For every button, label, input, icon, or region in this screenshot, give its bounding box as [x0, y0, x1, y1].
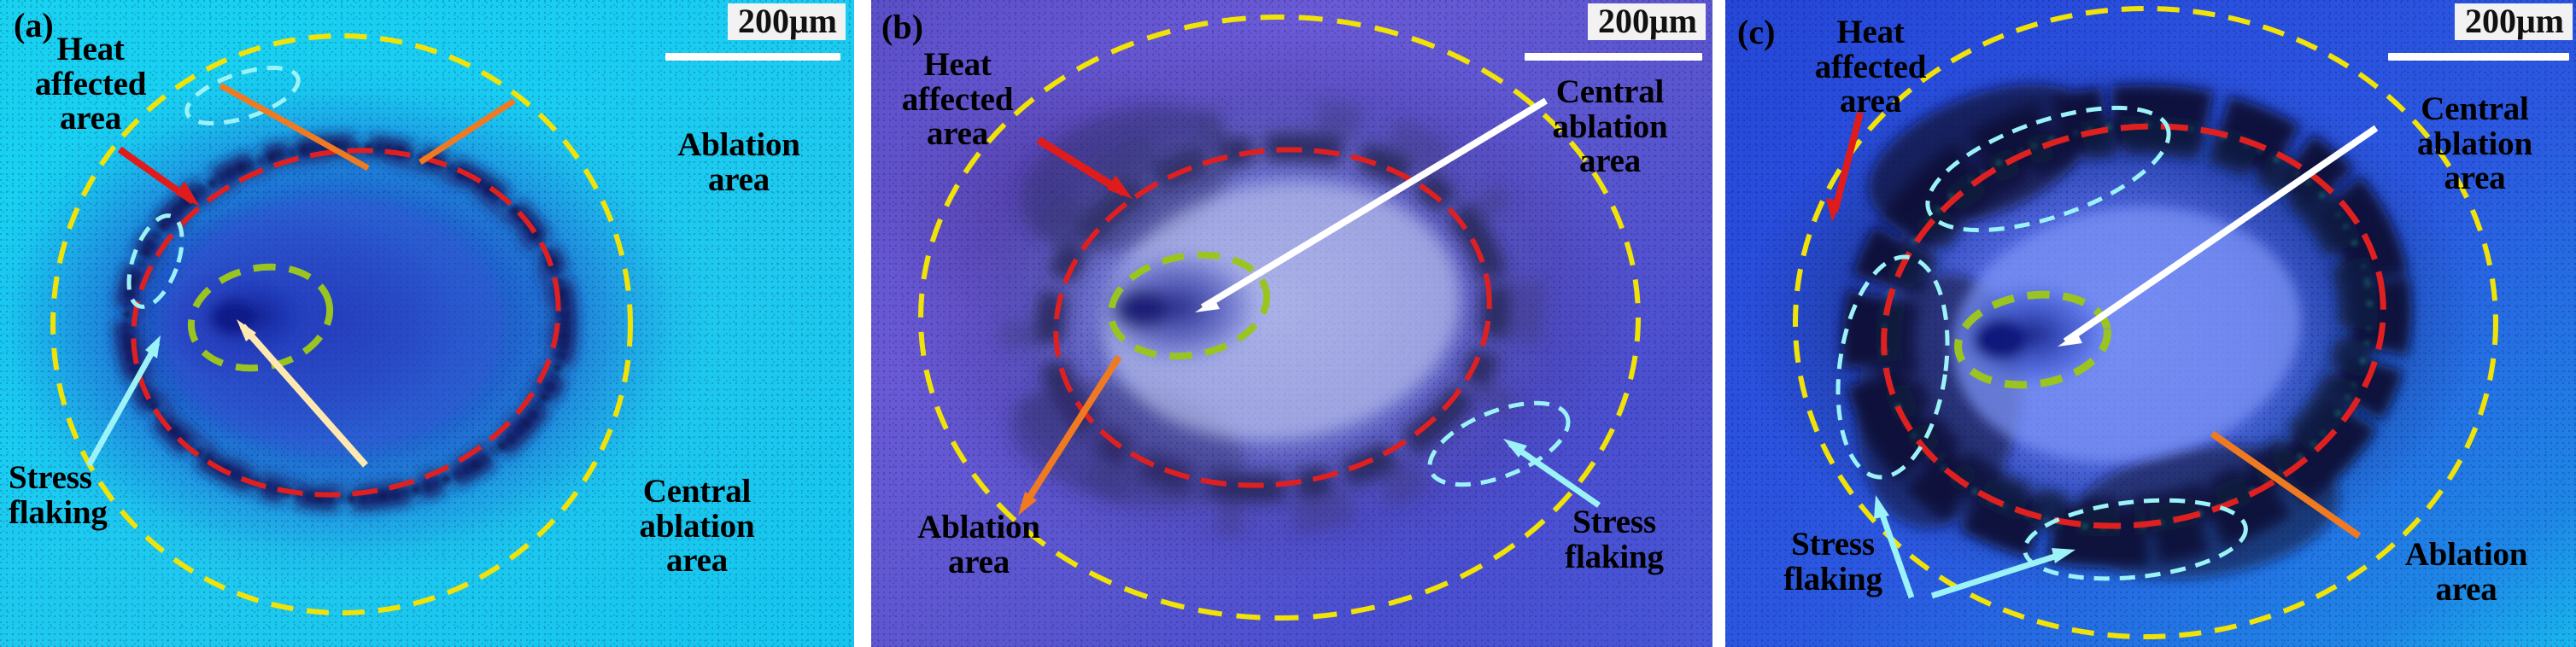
panel-c: (c) Heat affected area Central ablation … — [1725, 0, 2576, 647]
scale-bar-line-b — [1525, 53, 1702, 61]
heat-affected-label-a: Heat affected area — [14, 32, 167, 137]
scale-bar-label-c: 200μm — [2455, 3, 2573, 40]
ablation-label-a: Ablation area — [649, 128, 828, 197]
ablation-leader-line-a — [420, 101, 514, 162]
central-ablation-label-c: Central ablation area — [2383, 92, 2567, 196]
panel-label-b: (b) — [881, 7, 923, 47]
panel-label-c: (c) — [1737, 12, 1775, 52]
stress-flaking-label-b: Stress flaking — [1529, 505, 1700, 574]
ablation-label-b: Ablation area — [885, 510, 1073, 580]
stress-flaking-label-a: Stress flaking — [9, 461, 162, 530]
ablation-micrograph-figure: (a) Heat affected area Ablation area Str… — [0, 0, 2576, 647]
ablation-label-c: Ablation area — [2374, 538, 2558, 607]
heat-affected-label-b: Heat affected area — [876, 48, 1039, 152]
heat-affected-arrow-a — [120, 149, 200, 207]
panel-a: (a) Heat affected area Ablation area Str… — [0, 0, 854, 647]
scale-bar-line-c — [2388, 53, 2569, 61]
central-ablation-label-b: Central ablation area — [1520, 75, 1700, 179]
stress-flaking-label-c: Stress flaking — [1748, 528, 1918, 597]
heat-affected-label-c: Heat affected area — [1794, 15, 1947, 119]
panel-b: (b) Heat affected area Central ablation … — [871, 0, 1712, 647]
scale-bar-line-a — [665, 53, 840, 61]
scale-bar-label-b: 200μm — [1588, 3, 1706, 40]
central-ablation-label-a: Central ablation area — [603, 475, 791, 579]
scale-bar-label-a: 200μm — [728, 3, 846, 40]
heat-affected-arrow-c — [1826, 113, 1860, 222]
